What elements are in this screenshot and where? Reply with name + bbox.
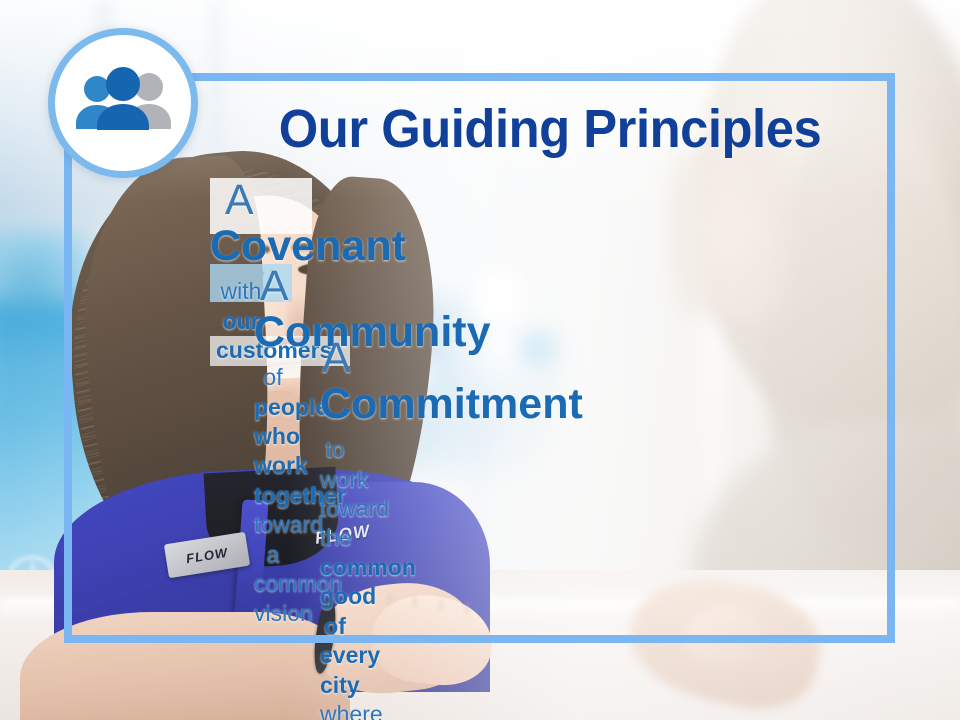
principle-sub-regular-2: where xyxy=(320,701,383,720)
people-group-icon xyxy=(69,65,177,141)
principle-headline: A Commitment xyxy=(320,336,350,427)
principle-keyword: Commitment xyxy=(320,380,583,428)
page-title: Our Guiding Principles xyxy=(230,78,869,156)
principle-sub-regular: to work toward the xyxy=(320,436,389,550)
principle-sub-regular: of xyxy=(263,364,282,390)
guiding-principles-graphic: FLOW FLOW Our Guiding Principles xyxy=(0,0,960,720)
principle-block-covenant: A Covenant with our customers xyxy=(210,178,312,234)
principle-lead: A xyxy=(260,262,286,310)
principle-headline: A Community xyxy=(254,264,292,355)
principle-subtext: of people who work together toward a com… xyxy=(254,363,292,628)
principle-lead: A xyxy=(225,176,251,224)
principle-sub-bold: common xyxy=(320,554,416,580)
principle-sub-regular: with xyxy=(221,278,262,304)
principle-lead: A xyxy=(322,334,348,382)
principle-keyword: Community xyxy=(254,308,491,356)
text-content: Our Guiding Principles A Covenant with o… xyxy=(210,78,890,638)
principle-keyword: Covenant xyxy=(210,222,406,270)
principle-subtext: to work toward the common good of every … xyxy=(320,435,350,720)
principle-headline: A Covenant xyxy=(210,178,266,269)
people-group-badge xyxy=(48,28,198,178)
